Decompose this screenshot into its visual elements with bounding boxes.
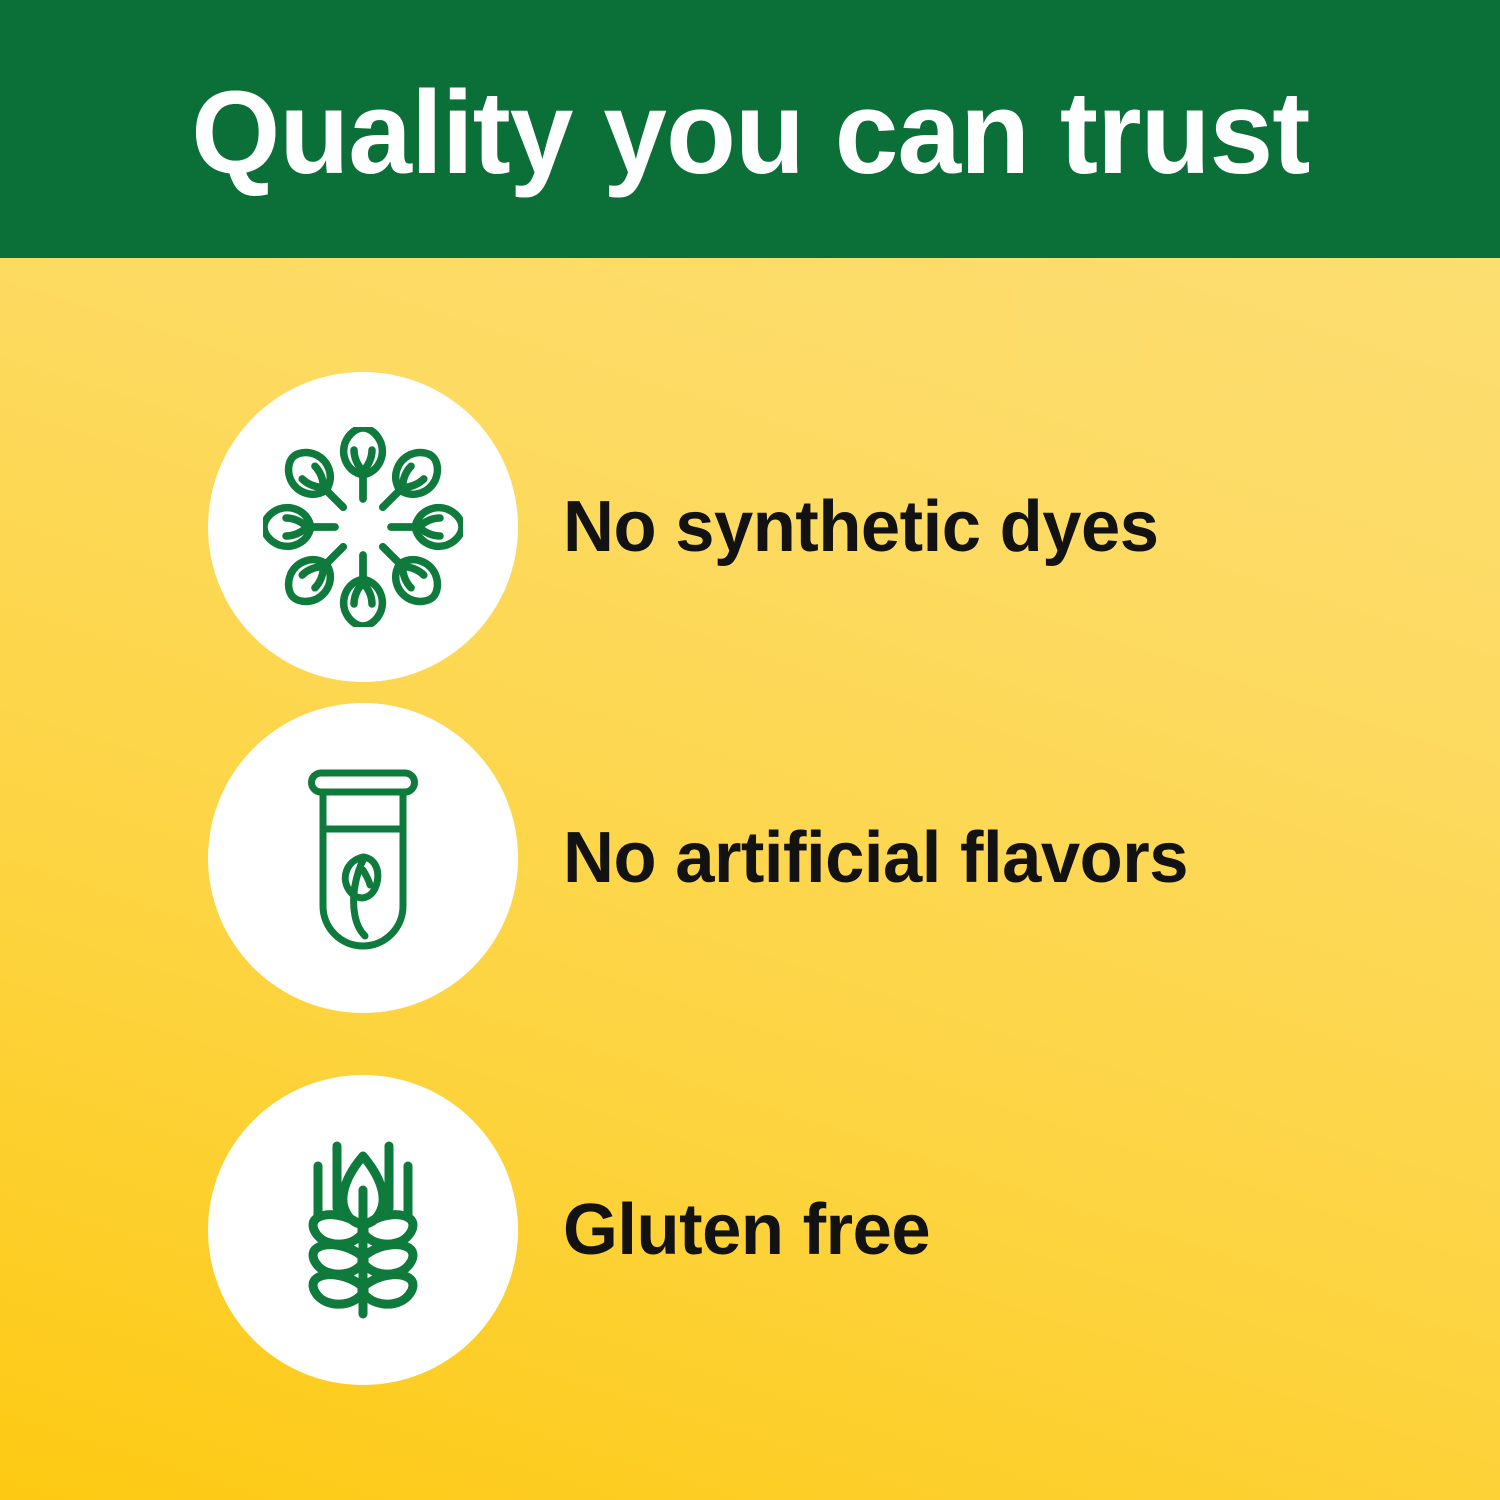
feature-label: No artificial flavors [563, 822, 1188, 894]
feature-list: No synthetic dyes [0, 258, 1500, 1500]
icon-badge [208, 1075, 518, 1385]
test-tube-leaf-icon [263, 758, 463, 958]
feature-label: Gluten free [563, 1194, 930, 1266]
feature-row: No synthetic dyes [0, 372, 1500, 682]
flower-petals-icon [263, 427, 463, 627]
wheat-stalk-icon [263, 1130, 463, 1330]
icon-badge [208, 372, 518, 682]
icon-badge [208, 703, 518, 1013]
page-title: Quality you can trust [191, 74, 1309, 192]
feature-row: Gluten free [0, 1075, 1500, 1385]
feature-label: No synthetic dyes [563, 491, 1159, 563]
quality-claims-poster: Quality you can trust [0, 0, 1500, 1500]
header-band: Quality you can trust [0, 0, 1500, 258]
feature-row: No artificial flavors [0, 703, 1500, 1013]
